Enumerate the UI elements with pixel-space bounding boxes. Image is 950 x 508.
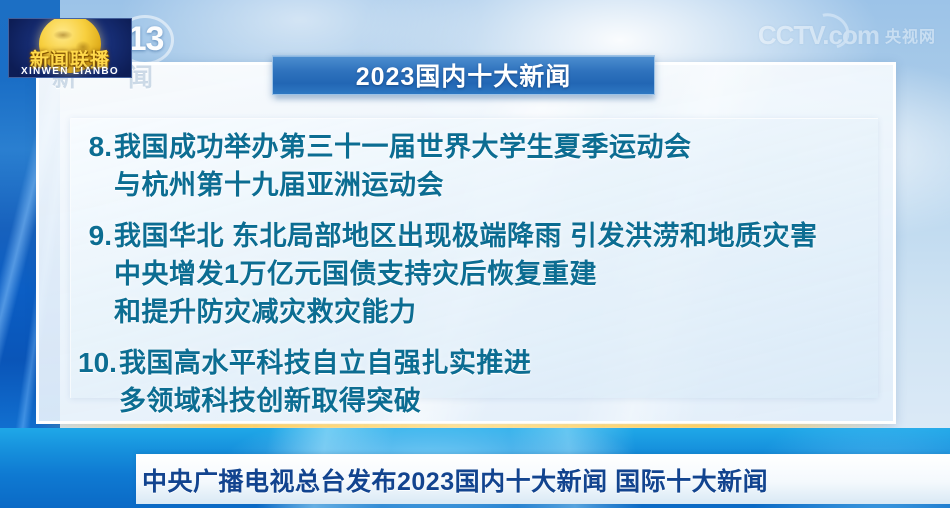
list-item-number: 9. — [78, 217, 112, 255]
list-item-lines: 我国成功举办第三十一届世界大学生夏季运动会 与杭州第十九届亚洲运动会 — [112, 128, 878, 204]
list-item: 10. 我国高水平科技自立自强扎实推进 多领域科技创新取得突破 — [78, 344, 878, 420]
list-item-lines: 我国华北 东北局部地区出现极端降雨 引发洪涝和地质灾害 中央增发1万亿元国债支持… — [112, 217, 878, 331]
list-item-number: 8. — [78, 128, 112, 166]
list-item-line: 与杭州第十九届亚洲运动会 — [114, 166, 878, 204]
headline-ticker-bar: 中央广播电视总台发布2023国内十大新闻 国际十大新闻 — [136, 454, 950, 504]
cctv-com-watermark: CCTV.com 央视网 — [758, 20, 936, 51]
list-item: 8. 我国成功举办第三十一届世界大学生夏季运动会 与杭州第十九届亚洲运动会 — [78, 128, 878, 204]
title-banner: 2023国内十大新闻 — [272, 55, 655, 95]
news-list: 8. 我国成功举办第三十一届世界大学生夏季运动会 与杭州第十九届亚洲运动会 9.… — [78, 128, 878, 433]
title-banner-shadow — [276, 95, 655, 102]
watermark-chinese: 央视网 — [885, 23, 936, 47]
headline-text: 中央广播电视总台发布2023国内十大新闻 国际十大新闻 — [136, 462, 768, 498]
list-item-lines: 我国高水平科技自立自强扎实推进 多领域科技创新取得突破 — [117, 344, 878, 420]
xinwen-lianbo-logo: 新闻联播 XINWEN LIANBO — [8, 18, 132, 78]
list-item-number: 10. — [78, 344, 117, 382]
list-item-line: 多领域科技创新取得突破 — [119, 382, 878, 420]
list-item-line: 我国高水平科技自立自强扎实推进 — [119, 344, 878, 382]
list-item-line: 中央增发1万亿元国债支持灾后恢复重建 — [114, 255, 878, 293]
program-name-en: XINWEN LIANBO — [9, 66, 131, 77]
list-item-line: 和提升防灾减灾救灾能力 — [114, 293, 878, 331]
list-item-line: 我国成功举办第三十一届世界大学生夏季运动会 — [114, 128, 878, 166]
list-item-line: 我国华北 东北局部地区出现极端降雨 引发洪涝和地质灾害 — [114, 217, 878, 255]
page-title: 2023国内十大新闻 — [356, 57, 572, 93]
broadcast-frame: CCTV 13 CCTV.com 央视网 新 闻 2023国内十大新闻 8. 我… — [0, 0, 950, 508]
channel-number-wrap: 13 — [128, 20, 168, 59]
list-item: 9. 我国华北 东北局部地区出现极端降雨 引发洪涝和地质灾害 中央增发1万亿元国… — [78, 217, 878, 331]
